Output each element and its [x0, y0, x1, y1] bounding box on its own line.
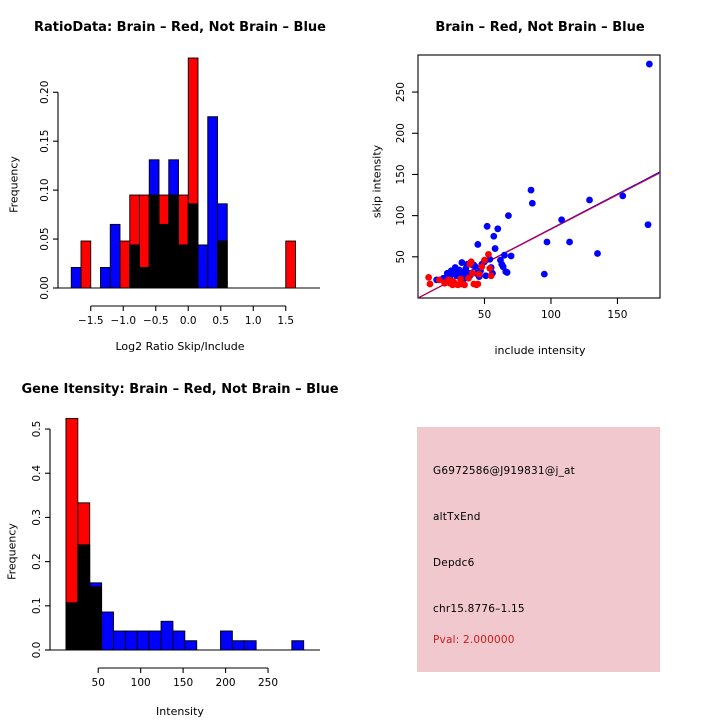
x-tick-label: 100 [131, 677, 151, 689]
x-tick-label: 1.5 [277, 315, 294, 327]
scatter-point [586, 197, 593, 204]
hist-bar [81, 241, 91, 288]
scatter-point [484, 223, 491, 230]
scatter-title: Brain – Red, Not Brain – Blue [360, 20, 720, 35]
gene-hist-canvas: 0.00.10.20.30.40.550100150200250 [0, 360, 360, 720]
x-tick-label: 1.0 [245, 315, 262, 327]
x-tick-label: −1.5 [78, 315, 104, 327]
scatter-point [492, 245, 499, 252]
gene-hist-title: Gene Itensity: Brain – Red, Not Brain – … [0, 382, 360, 397]
scatter-point [427, 281, 434, 288]
scatter-point [488, 272, 495, 279]
y-tick-label: 200 [395, 123, 407, 143]
y-tick-label: 0.00 [39, 276, 51, 299]
hist-bar [90, 583, 102, 650]
scatter-point [504, 269, 511, 276]
scatter-point [619, 192, 626, 199]
scatter-point [494, 225, 501, 232]
hist-bar [66, 603, 78, 650]
scatter-canvas: 5010015050100150200250 [360, 0, 720, 360]
y-tick-label: 50 [395, 250, 407, 263]
scatter-point [476, 271, 483, 278]
hist-bar [113, 631, 125, 650]
y-tick-label: 0.20 [39, 81, 51, 104]
scatter-point [481, 257, 488, 264]
hist-bar [173, 631, 185, 650]
hist-bar [137, 631, 149, 650]
scatter-point [529, 200, 536, 207]
x-tick-label: 150 [173, 677, 193, 689]
scatter-point [544, 239, 551, 246]
gene-hist-ylabel: Frequency [6, 502, 19, 602]
scatter-ylabel: skip intensity [371, 132, 384, 232]
scatter-point [485, 251, 492, 258]
gene-hist-blue-bars [66, 545, 304, 650]
hist-bar [161, 621, 173, 650]
ratio-hist-title: RatioData: Brain – Red, Not Brain – Blue [0, 20, 360, 35]
y-tick-label: 250 [395, 82, 407, 102]
y-tick-label: 0.1 [31, 597, 43, 614]
scatter-point [558, 216, 565, 223]
panel-scatter: Brain – Red, Not Brain – Blue 5010015050… [360, 0, 720, 360]
ratio-hist-ylabel: Frequency [8, 135, 21, 235]
scatter-point [474, 241, 481, 248]
x-tick-label: 0.5 [212, 315, 229, 327]
scatter-point [646, 61, 653, 68]
hist-bar [292, 641, 304, 650]
info-probe-id: G6972586@J919831@j_at [433, 465, 575, 477]
hist-bar [244, 641, 256, 650]
x-tick-label: −1.0 [111, 315, 137, 327]
hist-bar [198, 245, 208, 288]
x-tick-label: −0.5 [143, 315, 169, 327]
y-tick-label: 0.4 [31, 465, 43, 482]
x-tick-label: 200 [216, 677, 236, 689]
hist-bar [120, 241, 130, 288]
info-event-type: altTxEnd [433, 511, 481, 523]
hist-bar [185, 641, 197, 650]
hist-bar [78, 545, 90, 650]
y-tick-label: 0.5 [31, 421, 43, 438]
hist-bar [286, 241, 296, 288]
info-panel-box: G6972586@J919831@j_at altTxEnd Depdc6 ch… [417, 427, 660, 672]
y-tick-label: 100 [395, 206, 407, 226]
hist-bar [149, 631, 161, 650]
info-gene-symbol: Depdc6 [433, 557, 475, 569]
scatter-point [566, 239, 573, 246]
x-tick-label: 0.0 [180, 315, 197, 327]
gene-hist-xlabel: Intensity [0, 705, 360, 718]
y-tick-label: 0.0 [31, 642, 43, 659]
hist-bar [101, 267, 111, 288]
y-tick-label: 0.3 [31, 509, 43, 526]
hist-bar [218, 241, 228, 288]
hist-bar [71, 267, 81, 288]
plot-page: RatioData: Brain – Red, Not Brain – Blue… [0, 0, 720, 720]
panel-ratio-histogram: RatioData: Brain – Red, Not Brain – Blue… [0, 0, 360, 360]
panel-gene-histogram: Gene Itensity: Brain – Red, Not Brain – … [0, 360, 360, 720]
x-tick-label: 250 [258, 677, 278, 689]
x-tick-label: 50 [92, 677, 105, 689]
scatter-point [486, 265, 493, 272]
hist-bar [220, 631, 232, 650]
hist-bar [188, 58, 198, 288]
hist-bar [102, 612, 114, 650]
scatter-xlabel: include intensity [360, 344, 720, 357]
y-tick-label: 0.05 [39, 227, 51, 250]
hist-bar [169, 195, 179, 288]
scatter-point [469, 270, 476, 277]
hist-bar [125, 631, 137, 650]
ratio-hist-xlabel: Log2 Ratio Skip/Include [0, 340, 360, 353]
y-tick-label: 0.10 [39, 178, 51, 201]
scatter-point [645, 221, 652, 228]
scatter-point [505, 212, 512, 219]
scatter-point [478, 263, 485, 270]
x-tick-label: 150 [607, 309, 627, 321]
ratio-hist-canvas: 0.000.050.100.150.20−1.5−1.0−0.50.00.51.… [0, 0, 360, 360]
scatter-point [594, 250, 601, 257]
hist-bar [159, 195, 169, 288]
y-tick-label: 0.15 [39, 129, 51, 152]
scatter-point [474, 281, 481, 288]
panel-info: G6972586@J919831@j_at altTxEnd Depdc6 ch… [360, 360, 720, 720]
scatter-point [501, 252, 508, 259]
scatter-point [490, 233, 497, 240]
hist-bar [140, 195, 150, 288]
scatter-point [468, 258, 475, 265]
hist-bar [232, 641, 244, 650]
hist-bar [179, 195, 189, 288]
scatter-points [425, 61, 653, 289]
scatter-point [528, 187, 535, 194]
y-tick-label: 150 [395, 164, 407, 184]
scatter-point [508, 253, 515, 260]
scatter-point [425, 274, 432, 281]
hist-bar [110, 224, 120, 288]
hist-bar [208, 117, 218, 288]
scatter-point [461, 281, 468, 288]
y-tick-label: 0.2 [31, 553, 43, 570]
info-locus: chr15.8776–1.15 [433, 603, 525, 615]
x-tick-label: 50 [478, 309, 491, 321]
scatter-point [541, 271, 548, 278]
hist-bar [149, 195, 159, 288]
scatter-plot-box [418, 55, 660, 298]
x-tick-label: 100 [541, 309, 561, 321]
info-pval: Pval: 2.000000 [433, 634, 515, 646]
hist-bar [130, 195, 140, 288]
